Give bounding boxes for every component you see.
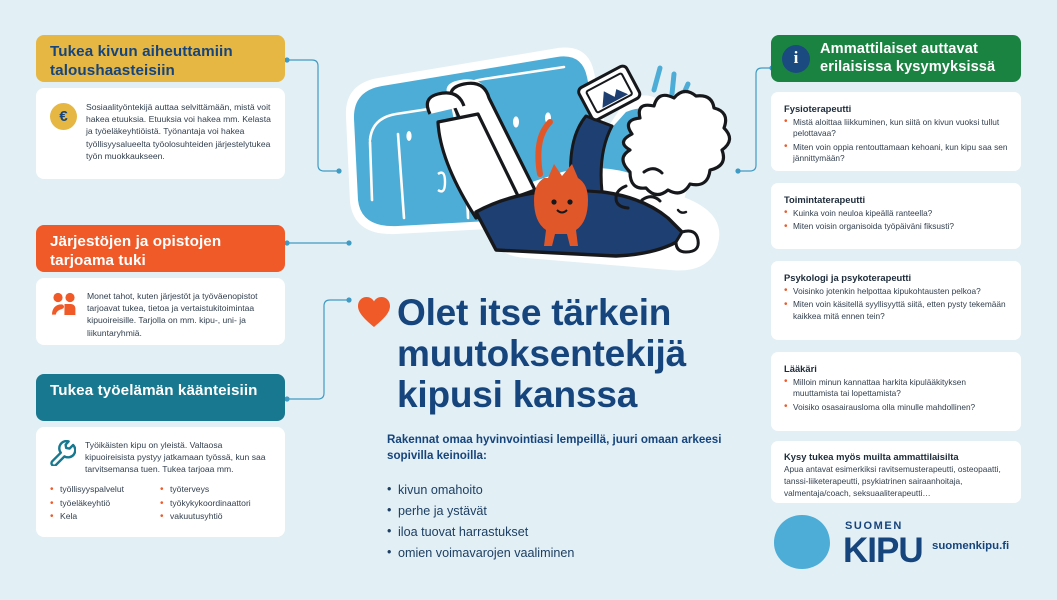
card-header-professionals: i Ammattilaiset auttavat erilaisissa kys… <box>771 35 1021 82</box>
card-title-worklife: Tukea työelämän käänteisiin <box>50 382 258 399</box>
worklife-list-left: työllisyyspalvelut työeläkeyhtiö Kela <box>50 483 160 525</box>
list-item: Mistä aloittaa liikkuminen, kun siitä on… <box>784 117 1009 140</box>
person-on-sofa-with-cat-illustration <box>326 22 756 302</box>
prof-card-laakari: Lääkäri Milloin minun kannattaa harkita … <box>771 352 1021 431</box>
list-item: työeläkeyhtiö <box>50 497 160 511</box>
person-shape <box>427 64 729 270</box>
prof-card-fysioterapeutti: Fysioterapeutti Mistä aloittaa liikkumin… <box>771 92 1021 171</box>
list-item: Milloin minun kannattaa harkita kipulääk… <box>784 377 1009 400</box>
card-header-worklife: Tukea työelämän käänteisiin <box>36 374 285 421</box>
list-item: Kela <box>50 510 160 524</box>
list-item: iloa tuovat harrastukset <box>387 522 717 543</box>
prof-card-other-professionals: Kysy tukea myös muilta ammattilaisilta A… <box>771 441 1021 503</box>
list-item: työllisyyspalvelut <box>50 483 160 497</box>
list-item: perhe ja ystävät <box>387 501 717 522</box>
list-item: Voisinko jotenkin helpottaa kipukohtaust… <box>784 286 1009 297</box>
lead-paragraph: Rakennat omaa hyvinvointiasi lempeillä, … <box>387 432 727 465</box>
list-item: Miten voisin organisoida työpäiväni fiks… <box>784 221 1009 232</box>
card-body-worklife: Työikäisten kipu on yleistä. Valtaosa ki… <box>36 427 285 537</box>
card-text-organisations: Monet tahot, kuten järjestöt ja työväeno… <box>87 290 271 339</box>
list-item: omien voimavarojen vaaliminen <box>387 543 717 564</box>
wrench-icon <box>50 440 76 466</box>
info-icon: i <box>782 45 810 73</box>
prof-title: Toimintaterapeutti <box>784 194 1009 205</box>
prof-title: Psykologi ja psykoterapeutti <box>784 272 1009 283</box>
people-icon <box>50 292 78 316</box>
logo-main-word: KIPU <box>843 531 923 570</box>
benefit-list: kivun omahoito perhe ja ystävät iloa tuo… <box>387 480 717 564</box>
prof-card-psykologi: Psykologi ja psykoterapeutti Voisinko jo… <box>771 261 1021 340</box>
card-title-finance: Tukea kivun aiheuttamiin taloushaasteisi… <box>50 43 233 79</box>
card-text-finance: Sosiaalityöntekijä auttaa selvittämään, … <box>86 101 271 162</box>
prof-question-list: Milloin minun kannattaa harkita kipulääk… <box>784 377 1009 414</box>
heart-icon <box>357 296 391 328</box>
card-body-finance: € Sosiaalityöntekijä auttaa selvittämään… <box>36 88 285 179</box>
prof-title: Kysy tukea myös muilta ammattilaisilta <box>784 451 1009 462</box>
prof-question-list: Voisinko jotenkin helpottaa kipukohtaust… <box>784 286 1009 323</box>
card-title-professionals: Ammattilaiset auttavat erilaisissa kysym… <box>820 41 1011 76</box>
euro-icon: € <box>50 103 77 130</box>
list-item: Miten voin käsitellä syyllisyyttä siitä,… <box>784 299 1009 322</box>
prof-card-toimintaterapeutti: Toimintaterapeutti Kuinka voin neuloa ki… <box>771 183 1021 249</box>
prof-question-list: Mistä aloittaa liikkuminen, kun siitä on… <box>784 117 1009 165</box>
website-url: suomenkipu.fi <box>932 540 1009 552</box>
infographic-canvas: Tukea kivun aiheuttamiin taloushaasteisi… <box>0 0 1057 600</box>
list-item: Voisiko osasairausloma olla minulle mahd… <box>784 402 1009 413</box>
card-title-organisations: Järjestöjen ja opistojen tarjoama tuki <box>50 233 221 269</box>
list-item: työterveys <box>160 483 251 497</box>
list-item: kivun omahoito <box>387 480 717 501</box>
list-item: Miten voin oppia rentouttamaan kehoani, … <box>784 142 1009 165</box>
worklife-support-lists: työllisyyspalvelut työeläkeyhtiö Kela ty… <box>50 483 271 525</box>
card-header-finance: Tukea kivun aiheuttamiin taloushaasteisi… <box>36 35 285 82</box>
card-header-organisations: Järjestöjen ja opistojen tarjoama tuki <box>36 225 285 272</box>
card-text-worklife: Työikäisten kipu on yleistä. Valtaosa ki… <box>85 439 271 476</box>
prof-question-list: Kuinka voin neuloa kipeällä ranteella? M… <box>784 208 1009 233</box>
list-item: työkykykoordinaattori <box>160 497 251 511</box>
page-title: Olet itse tärkein muutoksentekijä kipusi… <box>397 292 757 415</box>
prof-title: Lääkäri <box>784 363 1009 374</box>
prof-note: Apua antavat esimerkiksi ravitsemusterap… <box>784 464 1009 499</box>
card-body-organisations: Monet tahot, kuten järjestöt ja työväeno… <box>36 278 285 345</box>
list-item: Kuinka voin neuloa kipeällä ranteella? <box>784 208 1009 219</box>
list-item: vakuutusyhtiö <box>160 510 251 524</box>
worklife-list-right: työterveys työkykykoordinaattori vakuutu… <box>160 483 251 525</box>
prof-title: Fysioterapeutti <box>784 103 1009 114</box>
